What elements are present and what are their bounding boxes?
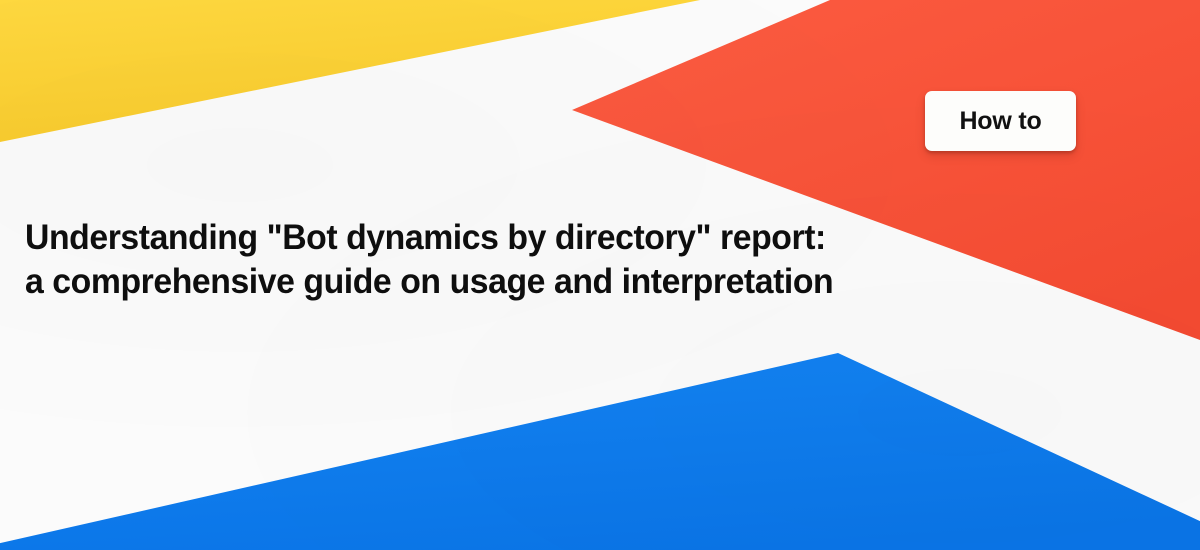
category-badge[interactable]: How to (925, 91, 1076, 151)
page-title-line-1: Understanding "Bot dynamics by directory… (25, 216, 894, 260)
article-cover-card: How to Understanding "Bot dynamics by di… (0, 0, 1200, 550)
page-title-line-2: a comprehensive guide on usage and inter… (25, 260, 894, 304)
blue-mountain-shape (0, 353, 1200, 550)
category-badge-label: How to (959, 109, 1041, 134)
page-title: Understanding "Bot dynamics by directory… (25, 216, 925, 304)
yellow-triangle (0, 0, 700, 142)
